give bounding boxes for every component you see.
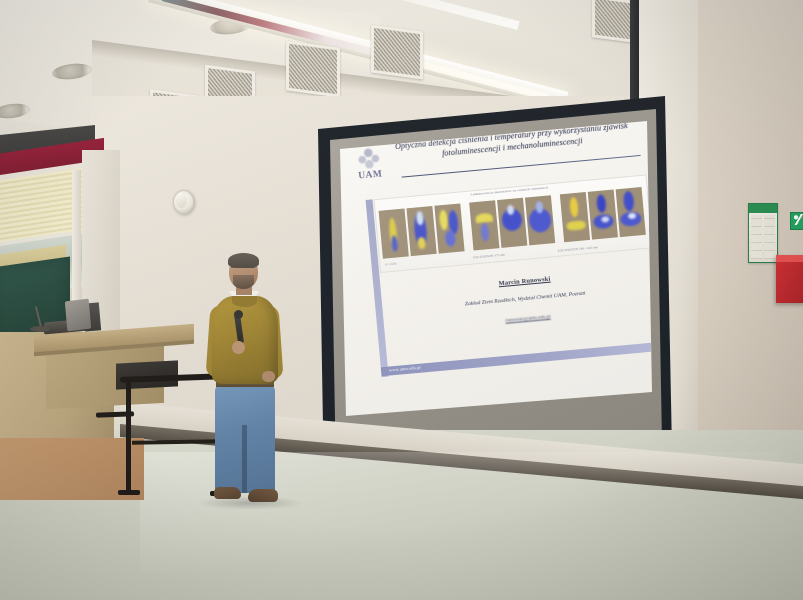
thumbnail-image xyxy=(379,209,409,259)
thumbnail-image xyxy=(469,200,499,250)
evacuation-sign-column xyxy=(751,215,762,259)
thumbnail-group-c xyxy=(560,187,646,242)
fire-alarm-call-point[interactable] xyxy=(776,255,803,303)
uam-logo-text: UAM xyxy=(353,169,388,182)
uam-logo: UAM xyxy=(351,144,388,187)
evacuation-plan-sign xyxy=(748,203,778,263)
presenter-leg-separation xyxy=(242,425,247,493)
presenter-shoe-right xyxy=(248,489,278,502)
presenter-hand-holding-mic xyxy=(232,341,245,354)
computer-monitor[interactable] xyxy=(65,299,91,332)
slide-footer-bar xyxy=(381,341,671,376)
presenter-hair xyxy=(228,253,259,268)
thumbnail-image xyxy=(497,198,527,248)
presenter-sweater-neckline xyxy=(232,296,257,307)
lecture-hall-seating xyxy=(0,440,220,600)
thumbnail-image xyxy=(560,192,590,242)
thumbnail-image xyxy=(525,195,555,245)
presenter-beard xyxy=(233,275,254,289)
ventilation-grille-icon xyxy=(286,40,340,97)
wall-clock-face xyxy=(176,193,187,208)
thumbnail-image xyxy=(588,189,618,239)
ventilation-grille-icon xyxy=(592,0,634,43)
fire-alarm-top xyxy=(776,255,803,262)
microphone-stand-base xyxy=(30,326,50,332)
ventilation-grille-icon xyxy=(371,25,423,80)
thumbnail-image xyxy=(616,187,646,237)
thumbnail-group-b xyxy=(469,195,555,250)
microphone-head-icon xyxy=(234,310,243,319)
presenter-hand-right xyxy=(262,371,275,382)
lecture-hall-photo: UAM Optyczna detekcja ciśnienia i temper… xyxy=(0,0,803,600)
evacuation-sign-column xyxy=(764,215,775,259)
thumbnail-image xyxy=(434,203,464,253)
thumbnail-image xyxy=(406,206,436,256)
thumbnail-group-a xyxy=(379,203,465,258)
evacuation-sign-header xyxy=(749,204,777,213)
running-man-glyph xyxy=(793,214,803,225)
